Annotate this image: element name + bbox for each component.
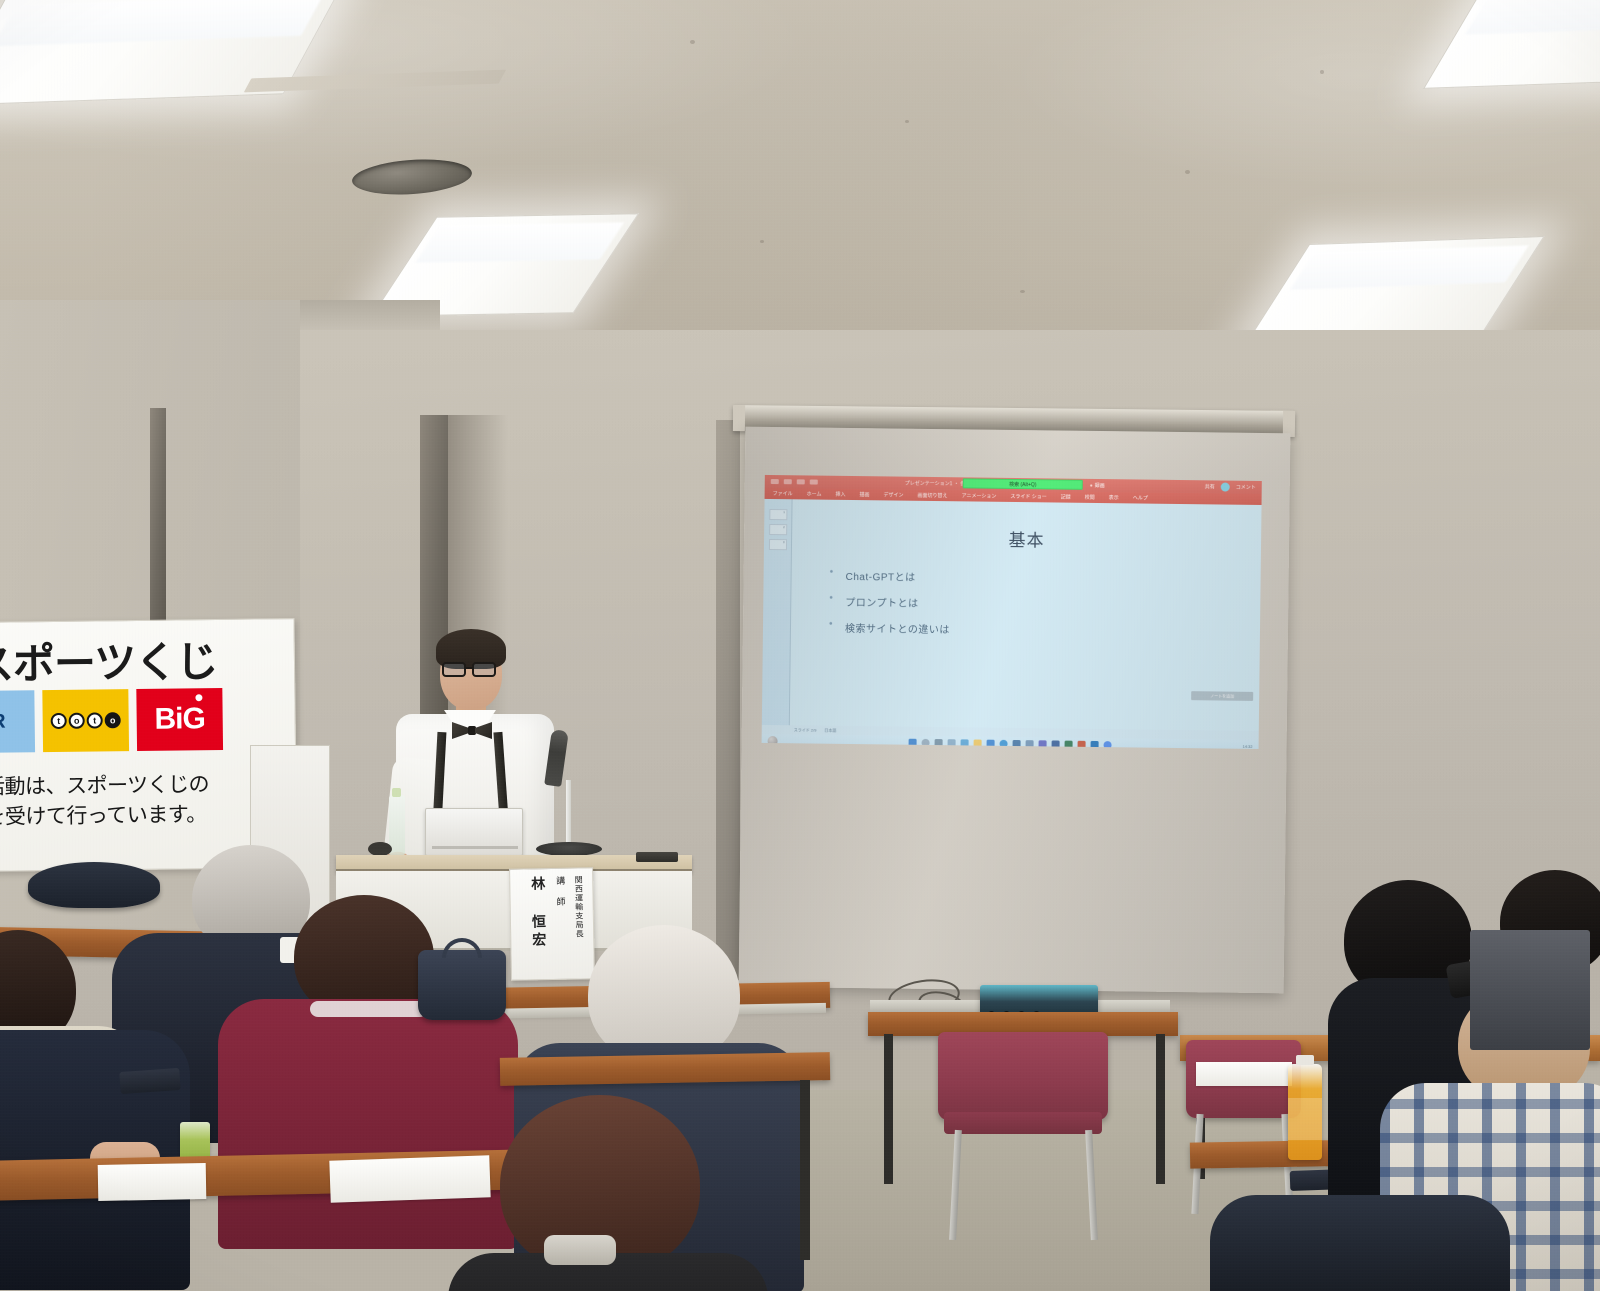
- smartphone[interactable]: [119, 1068, 180, 1094]
- placard-role: 講 師: [554, 876, 569, 979]
- toto-balls: toto: [51, 712, 121, 729]
- light-tube: [1290, 245, 1528, 290]
- calendar-icon[interactable]: [1026, 740, 1034, 748]
- black-cap: [28, 862, 160, 908]
- windows-icon[interactable]: [909, 739, 917, 747]
- winner-logo: ER: [0, 690, 35, 753]
- tab-animations[interactable]: アニメーション: [962, 492, 997, 499]
- tab-transitions[interactable]: 画面切り替え: [917, 492, 947, 499]
- equipment-cabinet: [1470, 930, 1590, 1050]
- orange-tea-bottle: [1288, 1064, 1322, 1160]
- microphone-base: [536, 842, 602, 856]
- powerpoint-icon[interactable]: [1078, 741, 1086, 749]
- powerpoint-workspace: 1 2 3 基本 Chat-GPTとは プロンプトとは 検索サイトとの違いは ノ…: [762, 499, 1262, 731]
- taskbar-clock: 14:32: [1243, 744, 1253, 749]
- placard-name: 林 恒宏: [528, 876, 550, 979]
- quick-access-toolbar[interactable]: [765, 479, 818, 485]
- paper-sheet: [98, 1163, 207, 1201]
- light-tube: [415, 222, 624, 262]
- table-leg: [884, 1034, 893, 1184]
- collar: [310, 1001, 428, 1017]
- start-icon[interactable]: [768, 736, 778, 746]
- tab-file[interactable]: ファイル: [773, 490, 793, 497]
- slide-thumbnail[interactable]: 1: [769, 509, 787, 520]
- explorer-icon[interactable]: [974, 740, 982, 748]
- save-icon[interactable]: [784, 479, 792, 484]
- share-button[interactable]: 共有: [1205, 483, 1215, 490]
- slide-thumbnail[interactable]: 2: [769, 524, 787, 535]
- hair-clip: [544, 1235, 616, 1265]
- slide-bullet-1: Chat-GPTとは: [830, 568, 951, 584]
- slide-bullet-3: 検索サイトとの違いは: [829, 620, 950, 636]
- bottle-label: [1288, 1098, 1322, 1140]
- bow-tie-icon: [452, 722, 492, 739]
- slide-canvas[interactable]: 基本 Chat-GPTとは プロンプトとは 検索サイトとの違いは ノートを追加: [790, 499, 1262, 731]
- comments-button[interactable]: コメント: [1236, 484, 1256, 491]
- projector-screen: プレゼンテーション1 ・ 保存済み 検索 (Alt+Q) 録画 共有 コメント …: [739, 427, 1291, 994]
- presenter-remote[interactable]: [636, 852, 678, 862]
- tab-design[interactable]: デザイン: [883, 491, 903, 498]
- slide-bullet-list: Chat-GPTとは プロンプトとは 検索サイトとの違いは: [829, 568, 951, 647]
- table-leg: [1156, 1034, 1165, 1184]
- tab-review[interactable]: 校閲: [1085, 494, 1095, 501]
- torso: [218, 999, 518, 1249]
- eyeglasses-icon: [442, 662, 504, 677]
- bottle-cap: [1296, 1055, 1314, 1065]
- table-mid-front: [500, 1052, 830, 1086]
- handbag: [418, 950, 506, 1020]
- tab-insert[interactable]: 挿入: [835, 491, 845, 498]
- banner-body-line2: 金を受けて行っています。: [0, 800, 264, 834]
- widgets-icon[interactable]: [948, 739, 956, 747]
- tab-home[interactable]: ホーム: [807, 490, 822, 497]
- wall-column-left: [150, 408, 166, 648]
- language-label: 日本語: [824, 727, 836, 733]
- laptop[interactable]: [425, 808, 523, 856]
- projected-desktop: プレゼンテーション1 ・ 保存済み 検索 (Alt+Q) 録画 共有 コメント …: [762, 475, 1262, 749]
- chair-seat-1[interactable]: [944, 1112, 1102, 1134]
- torso: [1210, 1195, 1510, 1291]
- edge-icon[interactable]: [1000, 740, 1008, 748]
- wall-column-screen: [716, 420, 740, 980]
- tab-record[interactable]: 記録: [1061, 494, 1071, 501]
- redo-icon[interactable]: [810, 479, 818, 484]
- chat-icon[interactable]: [961, 739, 969, 747]
- titlebar-right-group[interactable]: 共有 コメント: [1205, 482, 1256, 492]
- store-icon[interactable]: [987, 740, 995, 748]
- recording-indicator: 録画: [1090, 482, 1105, 489]
- banner-title: スポーツくじ: [0, 627, 272, 692]
- teams-icon[interactable]: [1039, 740, 1047, 748]
- slide-thumbnail-pane[interactable]: 1 2 3: [762, 499, 793, 725]
- chrome-icon[interactable]: [1104, 741, 1112, 749]
- tab-slideshow[interactable]: スライド ショー: [1010, 493, 1046, 500]
- toto-logo: toto: [42, 689, 129, 752]
- search-icon[interactable]: [922, 739, 930, 747]
- mail-icon[interactable]: [1013, 740, 1021, 748]
- paper-sheet: [1196, 1062, 1292, 1086]
- banner-body-line1: の活動は、スポーツくじの: [0, 769, 264, 803]
- slide-count-label: スライド 2/9: [794, 727, 817, 733]
- slide-thumbnail[interactable]: 3: [768, 539, 786, 550]
- slide-title: 基本: [792, 523, 1261, 554]
- big-logo-dot: [195, 694, 202, 701]
- light-tube: [0, 0, 323, 46]
- tab-draw[interactable]: 描画: [859, 491, 869, 498]
- light-tube: [1465, 0, 1600, 35]
- desk-object-dark: [368, 842, 392, 856]
- search-box[interactable]: 検索 (Alt+Q): [963, 478, 1083, 489]
- banner-body: の活動は、スポーツくじの 金を受けて行っています。: [0, 769, 264, 834]
- undo-icon[interactable]: [797, 479, 805, 484]
- name-placard: 関西運輸支局長 講 師 林 恒宏: [509, 867, 595, 980]
- big-logo: BiG: [136, 688, 223, 751]
- slide-bullet-2: プロンプトとは: [829, 594, 950, 610]
- chair-empty-1[interactable]: [938, 1032, 1108, 1120]
- outlook-icon[interactable]: [1091, 741, 1099, 749]
- autosave-toggle[interactable]: [771, 479, 779, 484]
- seminar-room-photo: スポーツくじ ER toto BiG の活動は、スポーツくじの 金を受けて行って…: [0, 0, 1600, 1291]
- tab-view[interactable]: 表示: [1109, 494, 1119, 501]
- word-icon[interactable]: [1052, 740, 1060, 748]
- table-leg: [800, 1080, 810, 1260]
- excel-icon[interactable]: [1065, 741, 1073, 749]
- tab-help[interactable]: ヘルプ: [1133, 494, 1148, 501]
- add-notes-button[interactable]: ノートを追加: [1191, 691, 1253, 701]
- paper-sheet: [329, 1155, 490, 1203]
- taskview-icon[interactable]: [935, 739, 943, 747]
- banner-logo-row: ER toto BiG: [0, 688, 223, 753]
- avatar[interactable]: [1221, 483, 1230, 492]
- placard-organization: 関西運輸支局長: [573, 875, 586, 978]
